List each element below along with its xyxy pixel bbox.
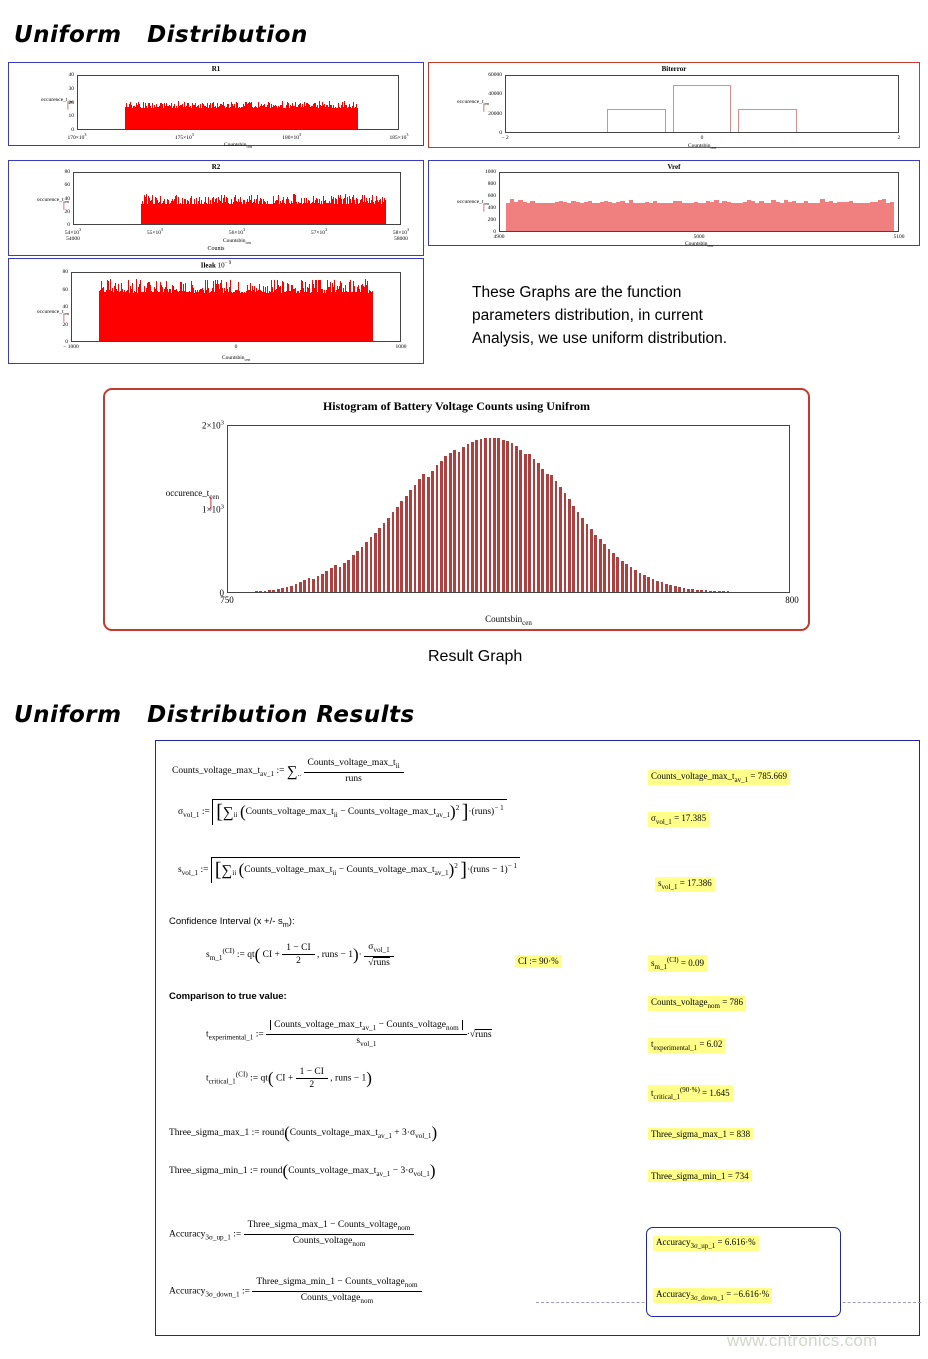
x-axis-tick-label: 55×103 [147, 227, 163, 236]
chart-r2-axis-extra: Counts [9, 246, 423, 252]
histogram-bar [268, 590, 271, 592]
y-axis-tick-label: 80 [63, 269, 69, 275]
chart-r1: R1 occurence_tcen ▏ 010203040170×103175×… [8, 62, 424, 146]
histogram-bar [594, 535, 597, 592]
histogram-bar [661, 582, 664, 592]
histogram-bar [616, 557, 619, 592]
result-ci: CI := 90·% [515, 955, 562, 967]
histogram-bar [541, 469, 544, 592]
x-axis-tick-label: − 1000 [63, 344, 78, 350]
histogram-bar [361, 547, 364, 592]
histogram-bar [634, 570, 637, 592]
histogram-bar [453, 450, 456, 592]
histogram-bar [317, 576, 320, 592]
histogram-bar [405, 496, 408, 592]
histogram-bar [691, 589, 694, 592]
chart-vref-ylegend: occurence_tcen ▏ [433, 199, 489, 210]
histogram-bar [444, 456, 447, 592]
formula-mean: Counts_voltage_max_tav_1 := ∑.. Counts_v… [172, 757, 404, 785]
result-t-experimental: texperimental_1 = 6.02 [648, 1038, 725, 1053]
histogram-bar [550, 475, 553, 592]
chart-vref-plot [499, 172, 899, 232]
chart-r1-xlabel: Countsbincen [77, 142, 399, 149]
result-accuracy-up: Accuracy3σ_up_1 = 6.616·% [653, 1236, 759, 1251]
main-histogram-xlabel: Countsbincen [227, 614, 790, 627]
y-axis-tick-label: 20 [69, 100, 75, 106]
chart-r2-title: R2 [9, 163, 423, 171]
histogram-bar [515, 446, 518, 592]
chart-ileak-xlabel: Countsbincen [71, 355, 401, 362]
histogram-bar [537, 463, 540, 592]
histogram-bar [599, 539, 602, 592]
histogram-bar [607, 109, 666, 132]
histogram-bar [308, 578, 311, 592]
y-axis-tick-label: 40 [65, 196, 71, 202]
histogram-bar [290, 586, 293, 592]
result-three-sigma-min: Three_sigma_min_1 = 734 [648, 1170, 752, 1182]
histogram-bar [392, 512, 395, 592]
y-axis-tick-label: 40 [63, 304, 69, 310]
chart-main-histogram: Histogram of Battery Voltage Counts usin… [103, 388, 810, 631]
explanatory-note: These Graphs are the function parameters… [472, 281, 727, 350]
chart-ileak-plot [71, 272, 401, 342]
legend-key-icon: ▏ [13, 204, 69, 208]
chart-biterror-ylegend: occurence_tcen ▏ [433, 99, 489, 110]
x-axis-tick-label: 175×103 [175, 132, 194, 141]
histogram-bar [325, 571, 328, 592]
histogram-bar [352, 555, 355, 592]
histogram-bar [700, 590, 703, 592]
histogram-bar [718, 591, 721, 592]
y-axis-tick-label: 2×103 [202, 420, 224, 431]
histogram-bar [727, 591, 730, 592]
note-line-3: Analysis, we use uniform distribution. [472, 327, 727, 350]
histogram-bar [581, 518, 584, 592]
histogram-bar [519, 450, 522, 592]
x-axis-tick-label: 185×103 [390, 132, 409, 141]
histogram-bar [555, 481, 558, 592]
y-axis-tick-label: 60 [63, 287, 69, 293]
x-axis-tick-label: 0 [701, 135, 704, 141]
histogram-bar [639, 573, 642, 592]
formula-sm-ci: sm_1(CI) := qt( CI + 1 − CI2 , runs − 1)… [206, 941, 394, 969]
histogram-bar [493, 438, 496, 592]
histogram-bar [286, 587, 289, 592]
histogram-bar [385, 200, 386, 224]
histogram-bar [422, 474, 425, 592]
x-axis-tick-label: 1000 [396, 344, 407, 350]
histogram-bar [400, 501, 403, 592]
histogram-bar [678, 587, 681, 592]
y-axis-tick-label: 800 [488, 181, 496, 187]
histogram-bar [458, 452, 461, 592]
chart-ileak-ylegend: occurence_tcen ▏ [13, 309, 69, 320]
chart-r2-plot [73, 172, 401, 225]
y-axis-tick-label: 10 [69, 113, 75, 119]
histogram-bar [370, 537, 373, 592]
histogram-bar [564, 493, 567, 592]
histogram-bar [378, 528, 381, 592]
histogram-bar [722, 591, 725, 592]
histogram-bar [673, 85, 732, 132]
result-accuracy-down: Accuracy3σ_down_1 = −6.616·% [653, 1288, 772, 1303]
y-axis-tick-label: 20000 [488, 111, 502, 117]
histogram-bar [669, 585, 672, 592]
note-line-1: These Graphs are the function [472, 281, 727, 304]
histogram-bar [586, 524, 589, 592]
histogram-bar [440, 461, 443, 592]
x-axis-tick-label: 5100 [894, 234, 905, 240]
histogram-bar [462, 447, 465, 592]
formula-accuracy-down: Accuracy3σ_down_1 := Three_sigma_min_1 −… [169, 1276, 422, 1307]
main-histogram-title: Histogram of Battery Voltage Counts usin… [105, 399, 808, 414]
histogram-bar [387, 518, 390, 592]
histogram-bar [559, 487, 562, 592]
result-graph-caption: Result Graph [428, 648, 522, 666]
histogram-bar [625, 564, 628, 592]
site-watermark: www.cntronics.com [727, 1331, 878, 1351]
histogram-bar [449, 453, 452, 592]
slide-page: Uniform Distribution R1 occurence_tcen ▏… [0, 0, 928, 1359]
histogram-bar [506, 441, 509, 592]
comparison-heading: Comparison to true value: [169, 991, 287, 1002]
histogram-bar [330, 568, 333, 592]
chart-r2-xlabel: Countsbincen [73, 238, 401, 245]
x-axis-tick-label: 54×103 [65, 227, 81, 236]
histogram-bar [334, 565, 337, 592]
histogram-bar [497, 438, 500, 592]
chart-r2: R2 occurence_tcen ▏ 02040608054×10355×10… [8, 160, 424, 256]
y-axis-tick-label: 60 [65, 182, 71, 188]
histogram-bar [608, 549, 611, 592]
histogram-bar [511, 443, 514, 592]
formula-s-sample: svol_1 := [∑ii (Counts_voltage_max_tii −… [178, 857, 520, 883]
histogram-bar [603, 544, 606, 592]
histogram-bar [303, 580, 306, 592]
histogram-bar [683, 588, 686, 592]
histogram-bar [709, 591, 712, 592]
histogram-bar [372, 291, 373, 341]
histogram-bar [475, 440, 478, 592]
histogram-bar [312, 579, 315, 592]
histogram-bar [652, 579, 655, 592]
histogram-bar [572, 506, 575, 592]
histogram-bar [612, 553, 615, 592]
x-axis-tick-label: 56×103 [229, 227, 245, 236]
x-axis-tick-label: 800 [785, 595, 799, 605]
chart-r1-plot [77, 75, 399, 130]
y-axis-tick-label: 20 [63, 322, 69, 328]
y-axis-tick-label: 20 [65, 209, 71, 215]
histogram-bar [409, 490, 412, 592]
histogram-bar [436, 465, 439, 592]
y-axis-tick-label: 400 [488, 205, 496, 211]
y-axis-tick-label: 1×103 [202, 504, 224, 515]
x-axis-tick-label: 57×103 [311, 227, 327, 236]
x-axis-tick-label: 2 [898, 135, 901, 141]
legend-key-icon: ▏ [433, 206, 489, 210]
histogram-bar [643, 575, 646, 592]
legend-key-icon: ▏ [433, 106, 489, 110]
histogram-bar [674, 586, 677, 592]
histogram-bar [890, 202, 894, 231]
x-axis-tick-label: 750 [220, 595, 234, 605]
formula-three-sigma-max: Three_sigma_max_1 := round(Counts_voltag… [169, 1123, 437, 1143]
histogram-bar [687, 589, 690, 592]
result-three-sigma-max: Three_sigma_max_1 = 838 [648, 1128, 753, 1140]
section-title-results: Uniform Distribution Results [14, 702, 415, 728]
result-sm-ci: sm_1(CI) = 0.09 [648, 955, 707, 972]
histogram-bar [281, 588, 284, 592]
histogram-bar [484, 438, 487, 592]
chart-vref-xlabel: Countsbincen [499, 241, 899, 248]
chart-biterror: Biterror occurence_tcen ▏ 02000040000600… [428, 62, 920, 148]
histogram-bar [656, 581, 659, 592]
histogram-bar [356, 551, 359, 592]
chart-biterror-plot [505, 75, 899, 133]
histogram-bar [502, 440, 505, 593]
x-axis-tick-label: 4900 [494, 234, 505, 240]
chart-ileak-title: Ileak 10− 9 [9, 261, 423, 269]
x-axis-tick-label: 0 [235, 344, 238, 350]
legend-key-icon: ▏ [13, 316, 69, 320]
formula-three-sigma-min: Three_sigma_min_1 := round(Counts_voltag… [169, 1161, 436, 1181]
chart-biterror-xlabel: Countsbincen [505, 143, 899, 150]
x-axis-tick-label: 58×103 [393, 227, 409, 236]
result-sigma-vol: σvol_1 = 17.385 [648, 812, 709, 827]
chart-vref-title: Vref [429, 163, 919, 171]
x-axis-tick-label: 180×103 [282, 132, 301, 141]
histogram-bar [321, 574, 324, 592]
histogram-bar [665, 584, 668, 592]
x-axis-tick-label: 170×103 [68, 132, 87, 141]
chart-vref: Vref occurence_tcen ▏ 020040060080010004… [428, 160, 920, 246]
chart-r2-ylegend: occurence_tcen ▏ [13, 197, 69, 208]
histogram-bar [528, 454, 531, 592]
histogram-bar [299, 582, 302, 592]
y-axis-tick-label: 40000 [488, 91, 502, 97]
histogram-bar [546, 474, 549, 592]
histogram-bar [568, 499, 571, 592]
histogram-bar [374, 533, 377, 592]
histogram-bar [295, 584, 298, 592]
histogram-bar [480, 439, 483, 592]
histogram-bar [621, 561, 624, 592]
formula-accuracy-up: Accuracy3σ_up_1 := Three_sigma_max_1 − C… [169, 1219, 414, 1250]
y-axis-tick-label: 60000 [488, 72, 502, 78]
histogram-bar [467, 444, 470, 592]
histogram-bar [277, 589, 280, 592]
confidence-interval-heading: Confidence Interval (x +/- sm): [169, 916, 295, 929]
histogram-bar [396, 507, 399, 592]
y-axis-tick-label: 80 [65, 169, 71, 175]
page-title-uniform-distribution: Uniform Distribution [14, 22, 308, 48]
histogram-bar [264, 591, 267, 592]
result-counts-voltage-av: Counts_voltage_max_tav_1 = 785.669 [648, 770, 790, 785]
histogram-bar [418, 479, 421, 592]
y-axis-tick-label: 1000 [485, 169, 496, 175]
histogram-bar [577, 512, 580, 592]
formula-sigma: σvol_1 := [∑ii (Counts_voltage_max_tii −… [178, 799, 507, 825]
histogram-bar [414, 485, 417, 592]
note-line-2: parameters distribution, in current [472, 304, 727, 327]
histogram-bar [427, 477, 430, 592]
histogram-bar [738, 109, 797, 132]
histogram-bar [255, 591, 258, 592]
accuracy-results-box: Accuracy3σ_up_1 = 6.616·% Accuracy3σ_dow… [646, 1227, 841, 1317]
histogram-bar [524, 454, 527, 592]
legend-key-icon: ▏ [15, 104, 73, 108]
histogram-bar [696, 590, 699, 592]
x-axis-tick-label: 5000 [694, 234, 705, 240]
chart-biterror-title: Biterror [429, 65, 919, 73]
result-t-critical: tcritical_1(90·%) = 1.645 [648, 1085, 733, 1102]
histogram-bar [647, 577, 650, 592]
histogram-bar [347, 560, 350, 593]
histogram-bar [489, 438, 492, 592]
histogram-bar [259, 591, 262, 592]
histogram-bar [630, 567, 633, 592]
histogram-bar [365, 542, 368, 592]
y-axis-tick-label: 30 [69, 86, 75, 92]
y-axis-tick-label: 40 [69, 72, 75, 78]
y-axis-tick-label: 600 [488, 193, 496, 199]
histogram-bar [357, 108, 358, 129]
result-s-vol: svol_1 = 17.386 [655, 877, 715, 892]
histogram-bar [590, 529, 593, 592]
chart-r1-ylegend: occurence_tcen ▏ [15, 97, 73, 108]
formula-t-critical: tcritical_1(CI) := qt( CI + 1 − CI2 , ru… [206, 1066, 372, 1091]
main-histogram-plot [227, 425, 790, 593]
histogram-bar [431, 471, 434, 592]
histogram-bar [705, 590, 708, 592]
histogram-bar [343, 563, 346, 592]
histogram-bar [471, 442, 474, 592]
result-counts-voltage-nom: Counts_voltagenom = 786 [648, 996, 746, 1011]
histogram-bar [713, 591, 716, 592]
histogram-bar [339, 567, 342, 592]
formula-t-experimental: texperimental_1 := Counts_voltage_max_ta… [206, 1019, 492, 1050]
histogram-bar [533, 459, 536, 592]
chart-ileak: Ileak 10− 9 occurence_tcen ▏ 020406080− … [8, 258, 424, 364]
y-axis-tick-label: 200 [488, 217, 496, 223]
histogram-bar [272, 590, 275, 592]
x-axis-tick-label: − 2 [501, 135, 508, 141]
histogram-bar [383, 523, 386, 592]
